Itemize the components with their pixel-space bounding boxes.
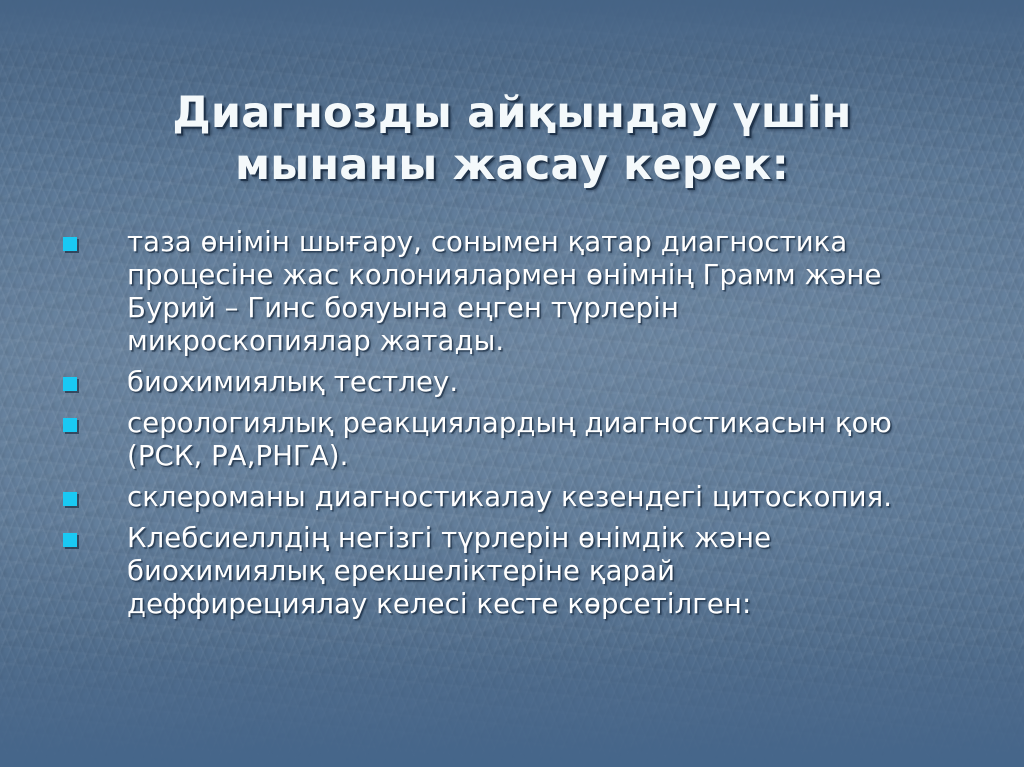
- list-item: биохимиялық тестлеу.: [0, 366, 1024, 399]
- square-bullet-icon: [63, 237, 77, 251]
- presentation-slide: Диагнозды айқындау үшін мынаны жасау кер…: [0, 0, 1024, 767]
- list-item-text: биохимиялық тестлеу.: [127, 366, 1024, 399]
- list-item: серологиялық реакциялардың диагностикасы…: [0, 407, 1024, 473]
- square-bullet-icon: [63, 492, 77, 506]
- square-bullet-icon: [63, 377, 77, 391]
- list-item: Клебсиеллдің негізгі түрлерін өнімдік жә…: [0, 522, 1024, 621]
- slide-title: Диагнозды айқындау үшін мынаны жасау кер…: [52, 87, 972, 192]
- bullet-list: таза өнімін шығару, сонымен қатар диагно…: [0, 226, 1024, 629]
- list-item: склероманы диагностикалау кезендегі цито…: [0, 481, 1024, 514]
- slide-content: Диагнозды айқындау үшін мынаны жасау кер…: [0, 0, 1024, 767]
- square-bullet-icon: [63, 418, 77, 432]
- list-item: таза өнімін шығару, сонымен қатар диагно…: [0, 226, 1024, 358]
- list-item-text: Клебсиеллдің негізгі түрлерін өнімдік жә…: [127, 522, 1024, 621]
- list-item-text: серологиялық реакциялардың диагностикасы…: [127, 407, 1024, 473]
- list-item-text: склероманы диагностикалау кезендегі цито…: [127, 481, 1024, 514]
- square-bullet-icon: [63, 533, 77, 547]
- list-item-text: таза өнімін шығару, сонымен қатар диагно…: [127, 226, 1024, 358]
